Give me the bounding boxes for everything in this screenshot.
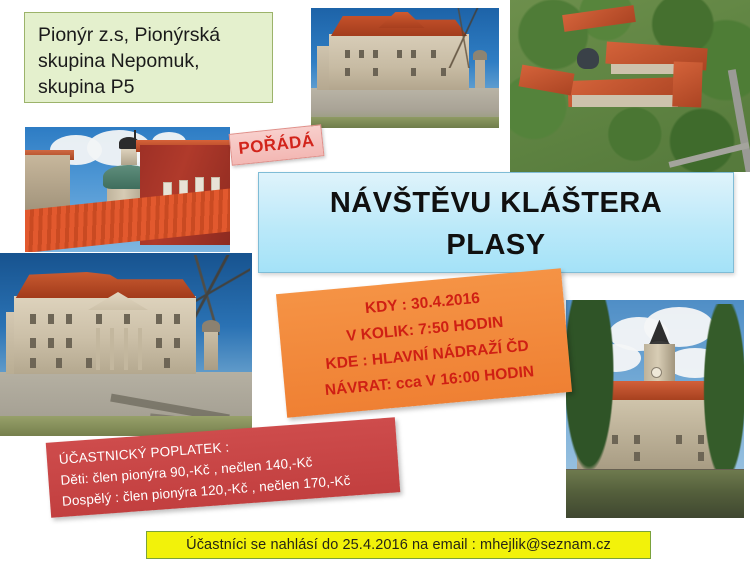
window [411,50,416,58]
roof-block [672,61,702,107]
window [96,314,102,324]
window [66,338,72,348]
window [30,338,36,348]
window [86,358,92,368]
window [373,50,378,58]
window [345,50,350,58]
window [634,452,640,461]
porada-label: POŘÁDÁ [238,131,316,159]
window [30,314,36,324]
tree [566,300,616,479]
column [138,328,142,370]
tree [701,304,744,491]
window [373,68,378,76]
window [66,314,72,324]
signup-text: Účastníci se nahlásí do 25.4.2016 na ema… [186,537,611,553]
window [345,68,350,76]
bare-tree-branch [429,8,499,68]
window [124,314,130,324]
column [110,328,114,370]
photo-monastery-aerial [510,0,750,172]
event-title-line-1: NÁVŠTĚVU KLÁŠTERA [330,187,662,220]
window [397,50,402,58]
window [156,338,162,348]
tower [204,328,218,370]
window [48,314,54,324]
event-title-line-2: PLASY [446,229,545,262]
column [96,328,100,370]
porada-badge: POŘÁDÁ [229,124,325,166]
event-details-box: KDY : 30.4.2016 V KOLIK: 7:50 HODIN KDE … [276,268,572,417]
photo-red-building-green-dome [25,127,230,252]
window [164,358,170,368]
window [56,358,62,368]
event-title-box: NÁVŠTĚVU KLÁŠTERA PLASY [258,172,734,273]
window [441,68,446,76]
wall-block [572,95,678,107]
photo-monastery-front-large [0,253,252,436]
column [124,328,128,370]
organizer-line-2: skupina Nepomuk, [38,48,260,74]
window [174,314,180,324]
window [676,435,682,444]
window [156,314,162,324]
organizer-line-1: Pionýr z.s, Pionýrská [38,22,260,48]
grass-strip [311,117,499,128]
tower-dome [202,320,220,332]
window [48,338,54,348]
window [411,68,416,76]
photo-church-clock-tower [566,300,744,518]
window [634,435,640,444]
organizer-line-3: skupina P5 [38,74,260,100]
organizer-box: Pionýr z.s, Pionýrská skupina Nepomuk, s… [24,12,273,103]
window [174,338,180,348]
spire [134,130,136,140]
window [359,50,364,58]
event-poster: Pionýr z.s, Pionýrská skupina Nepomuk, s… [0,0,750,563]
church-dome [577,48,599,69]
signup-banner: Účastníci se nahlásí do 25.4.2016 na ema… [146,531,651,559]
ground [566,470,744,518]
photo-monastery-front-small [311,8,499,128]
window [30,358,36,368]
